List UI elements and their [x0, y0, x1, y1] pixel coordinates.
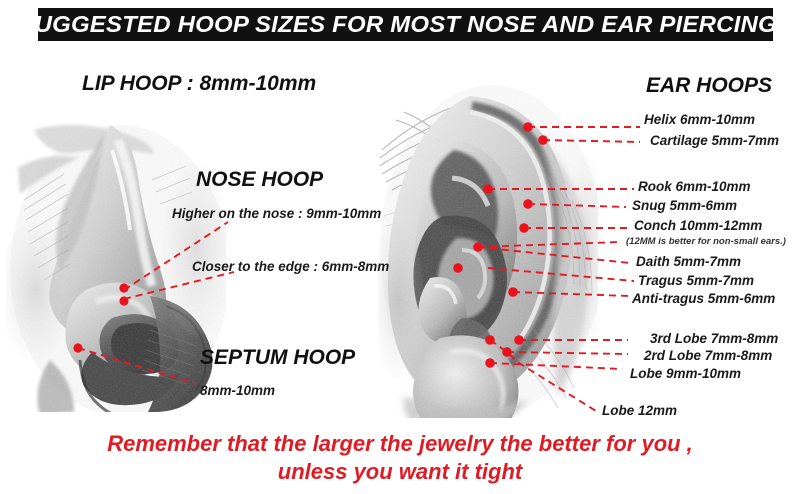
leader-snug	[528, 204, 626, 207]
ear-item-3rd-lobe: 3rd Lobe 7mm-8mm	[650, 331, 778, 346]
ear-item-lobe-12: Lobe 12mm	[602, 403, 677, 418]
leader-lobe-12	[490, 340, 596, 411]
leader-closer-to-edge	[124, 272, 234, 299]
ear-item-snug: Snug 5mm-6mm	[632, 198, 737, 213]
nose-item-closer: Closer to the edge : 6mm-8mm	[192, 259, 389, 274]
dot-daith	[473, 242, 483, 252]
leader-anti-tragus	[513, 292, 630, 296]
dot-2nd-lobe	[502, 347, 512, 357]
dot-nose-closer	[119, 296, 128, 305]
dot-septum	[73, 343, 82, 352]
dot-nose-higher	[119, 283, 128, 292]
leader-conch-note	[478, 242, 620, 247]
page-title: SUGGESTED HOOP SIZES FOR MOST NOSE AND E…	[18, 11, 793, 38]
ear-item-cartilage: Cartilage 5mm-7mm	[650, 133, 779, 148]
footer-line-1: Remember that the larger the jewelry the…	[107, 431, 693, 456]
dot-tragus	[453, 263, 463, 273]
dot-cartilage	[538, 135, 548, 145]
lip-hoop-heading: LIP HOOP : 8mm-10mm	[82, 72, 316, 96]
dot-3rd-lobe	[514, 335, 524, 345]
ear-item-conch: Conch 10mm-12mm	[634, 218, 762, 233]
septum-hoop-heading: SEPTUM HOOP	[200, 346, 355, 370]
leader-tragus	[488, 268, 634, 281]
nose-item-higher: Higher on the nose : 9mm-10mm	[172, 206, 381, 221]
header-banner: SUGGESTED HOOP SIZES FOR MOST NOSE AND E…	[38, 8, 773, 41]
ear-sketch	[372, 85, 608, 443]
dot-lobe-upper	[485, 335, 495, 345]
ear-item-conch-note: (12MM is better for non-small ears.)	[626, 236, 786, 247]
ear-leaders	[478, 127, 640, 411]
dot-helix	[523, 122, 533, 132]
infographic-poster: SUGGESTED HOOP SIZES FOR MOST NOSE AND E…	[0, 0, 800, 494]
leader-cartilage	[543, 140, 640, 142]
septum-hoop-size: 8mm-10mm	[200, 383, 275, 398]
footer-line-2: unless you want it tight	[0, 458, 800, 486]
dot-conch	[519, 223, 529, 233]
ear-hoops-heading: EAR HOOPS	[646, 74, 772, 98]
dot-rook	[483, 184, 493, 194]
ear-item-lobe: Lobe 9mm-10mm	[630, 366, 741, 381]
leader-2nd-lobe	[507, 352, 628, 354]
leader-lobe	[490, 363, 622, 369]
dot-lobe	[485, 358, 495, 368]
dot-snug	[523, 199, 533, 209]
nose-hoop-heading: NOSE HOOP	[196, 168, 323, 192]
dot-anti-tragus	[508, 287, 518, 297]
leader-higher-on-nose	[124, 222, 228, 290]
ear-item-daith: Daith 5mm-7mm	[636, 254, 741, 269]
ear-item-tragus: Tragus 5mm-7mm	[638, 273, 754, 288]
ear-item-anti-tragus: Anti-tragus 5mm-6mm	[632, 291, 775, 306]
ear-item-rook: Rook 6mm-10mm	[638, 179, 751, 194]
leader-daith	[478, 247, 630, 263]
leader-septum	[78, 348, 196, 384]
footer-note: Remember that the larger the jewelry the…	[0, 430, 800, 486]
ear-item-helix: Helix 6mm-10mm	[644, 112, 755, 127]
ear-item-2nd-lobe: 2rd Lobe 7mm-8mm	[644, 348, 772, 363]
